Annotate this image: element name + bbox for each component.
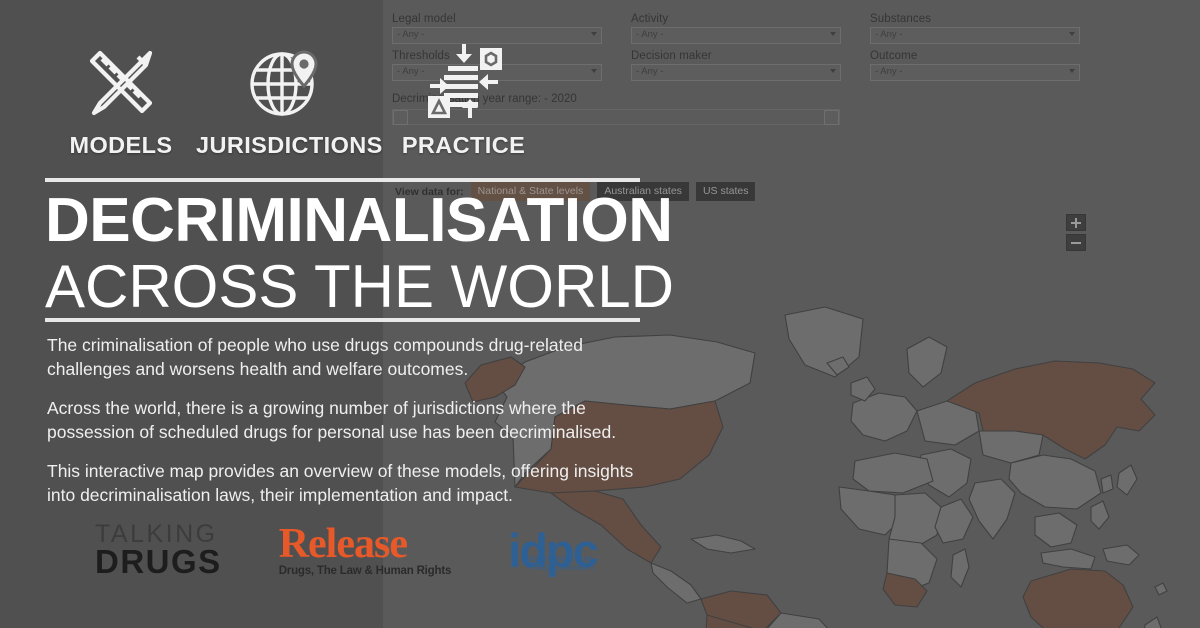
badge-jurisdictions[interactable]: JURISDICTIONS [196, 38, 376, 159]
divider-bottom [45, 318, 640, 322]
globe-pin-icon [196, 38, 376, 126]
ruler-pencil-icon [46, 38, 196, 126]
logo-idpc[interactable]: idpc International Drug Policy Consortiu… [508, 527, 597, 574]
poster-canvas: Legal model - Any - Activity - Any - Sub… [0, 0, 1200, 628]
title-line-1: DECRIMINALISATION [45, 186, 673, 255]
paragraph-1: The criminalisation of people who use dr… [47, 333, 637, 381]
partner-logos: TALKING DRUGS Release Drugs, The Law & H… [95, 522, 597, 578]
title-line-2: ACROSS THE WORLD [45, 254, 685, 320]
badge-label: PRACTICE [376, 132, 551, 159]
talkingdrugs-line-2: DRUGS [95, 545, 222, 578]
hero-panel: MODELS JURISDICTIONS [0, 0, 700, 628]
page-title: DECRIMINALISATION ACROSS THE WORLD [45, 188, 685, 320]
release-name: Release [279, 523, 451, 565]
logo-release[interactable]: Release Drugs, The Law & Human Rights [279, 523, 451, 578]
badge-label: MODELS [46, 132, 196, 159]
release-tagline: Drugs, The Law & Human Rights [279, 566, 451, 578]
divider-top [45, 178, 640, 182]
badge-practice[interactable]: PRACTICE [376, 38, 551, 159]
idpc-tagline: International Drug Policy Consortium [529, 554, 597, 572]
paragraph-3: This interactive map provides an overvie… [47, 459, 637, 507]
badge-label: JURISDICTIONS [196, 132, 376, 159]
logo-talkingdrugs[interactable]: TALKING DRUGS [95, 522, 222, 578]
process-workflow-icon [376, 38, 551, 126]
feature-badges: MODELS JURISDICTIONS [46, 38, 551, 159]
paragraph-2: Across the world, there is a growing num… [47, 396, 637, 444]
badge-models[interactable]: MODELS [46, 38, 196, 159]
hero-paragraphs: The criminalisation of people who use dr… [47, 333, 637, 522]
